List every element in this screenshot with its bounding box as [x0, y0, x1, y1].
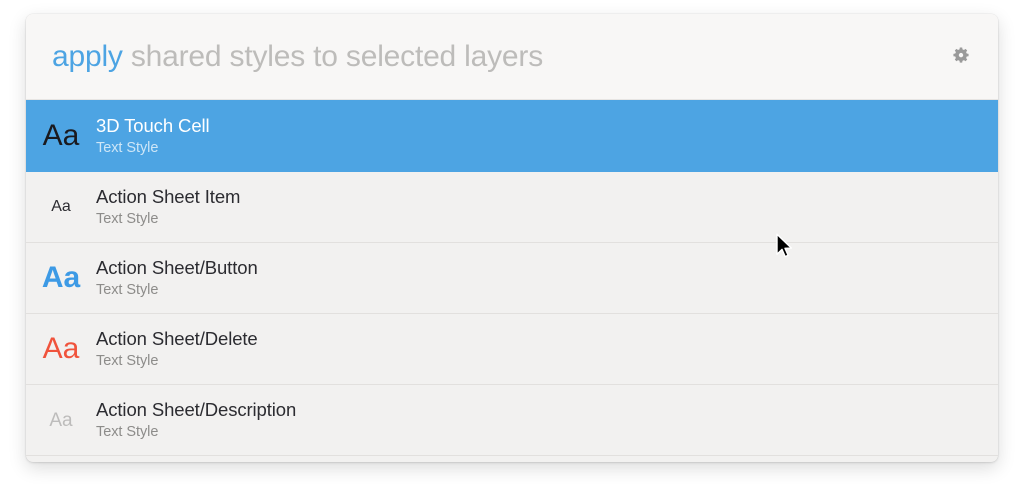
list-item[interactable]: Aa Action Sheet/Button Text Style [26, 243, 998, 314]
list-item-subtitle: Text Style [96, 282, 258, 299]
list-item-subtitle: Text Style [96, 211, 240, 228]
list-item-text: Action Sheet/Description Text Style [96, 399, 296, 441]
search-bar[interactable]: apply shared styles to selected layers [26, 14, 998, 100]
screen: apply shared styles to selected layers A… [0, 0, 1024, 484]
list-item[interactable]: Aa 3D Touch Cell Text Style [26, 100, 998, 172]
style-preview-glyph: Aa [26, 411, 96, 430]
list-item-title: Action Sheet/Delete [96, 328, 258, 350]
style-preview-glyph: Aa [26, 334, 96, 364]
settings-button[interactable] [946, 42, 976, 72]
list-item-text: Action Sheet Item Text Style [96, 186, 240, 228]
shared-styles-panel: apply shared styles to selected layers A… [26, 14, 998, 462]
style-preview-glyph: Aa [26, 199, 96, 215]
list-item[interactable]: Aa Action Sheet/Delete Text Style [26, 314, 998, 385]
search-hint-text: shared styles to selected layers [123, 40, 543, 73]
list-item-text: Action Sheet/Delete Text Style [96, 328, 258, 370]
search-input[interactable]: apply shared styles to selected layers [52, 40, 543, 74]
search-typed-text: apply [52, 40, 123, 73]
style-preview-glyph: Aa [26, 263, 96, 293]
list-item-text: Action Sheet/Button Text Style [96, 257, 258, 299]
list-item-text: 3D Touch Cell Text Style [96, 115, 210, 157]
list-item-subtitle: Text Style [96, 424, 296, 441]
list-item[interactable]: Aa Action Sheet Item Text Style [26, 172, 998, 243]
gear-icon [950, 46, 972, 68]
list-item-title: Action Sheet Item [96, 186, 240, 208]
list-item-title: Action Sheet/Description [96, 399, 296, 421]
list-item-subtitle: Text Style [96, 140, 210, 157]
list-item-title: 3D Touch Cell [96, 115, 210, 137]
list-item-title: Action Sheet/Button [96, 257, 258, 279]
list-item-subtitle: Text Style [96, 353, 258, 370]
list-item[interactable]: Aa Action Sheet/Description Text Style [26, 385, 998, 456]
style-preview-glyph: Aa [26, 121, 96, 151]
style-list: Aa 3D Touch Cell Text Style Aa Action Sh… [26, 100, 998, 456]
